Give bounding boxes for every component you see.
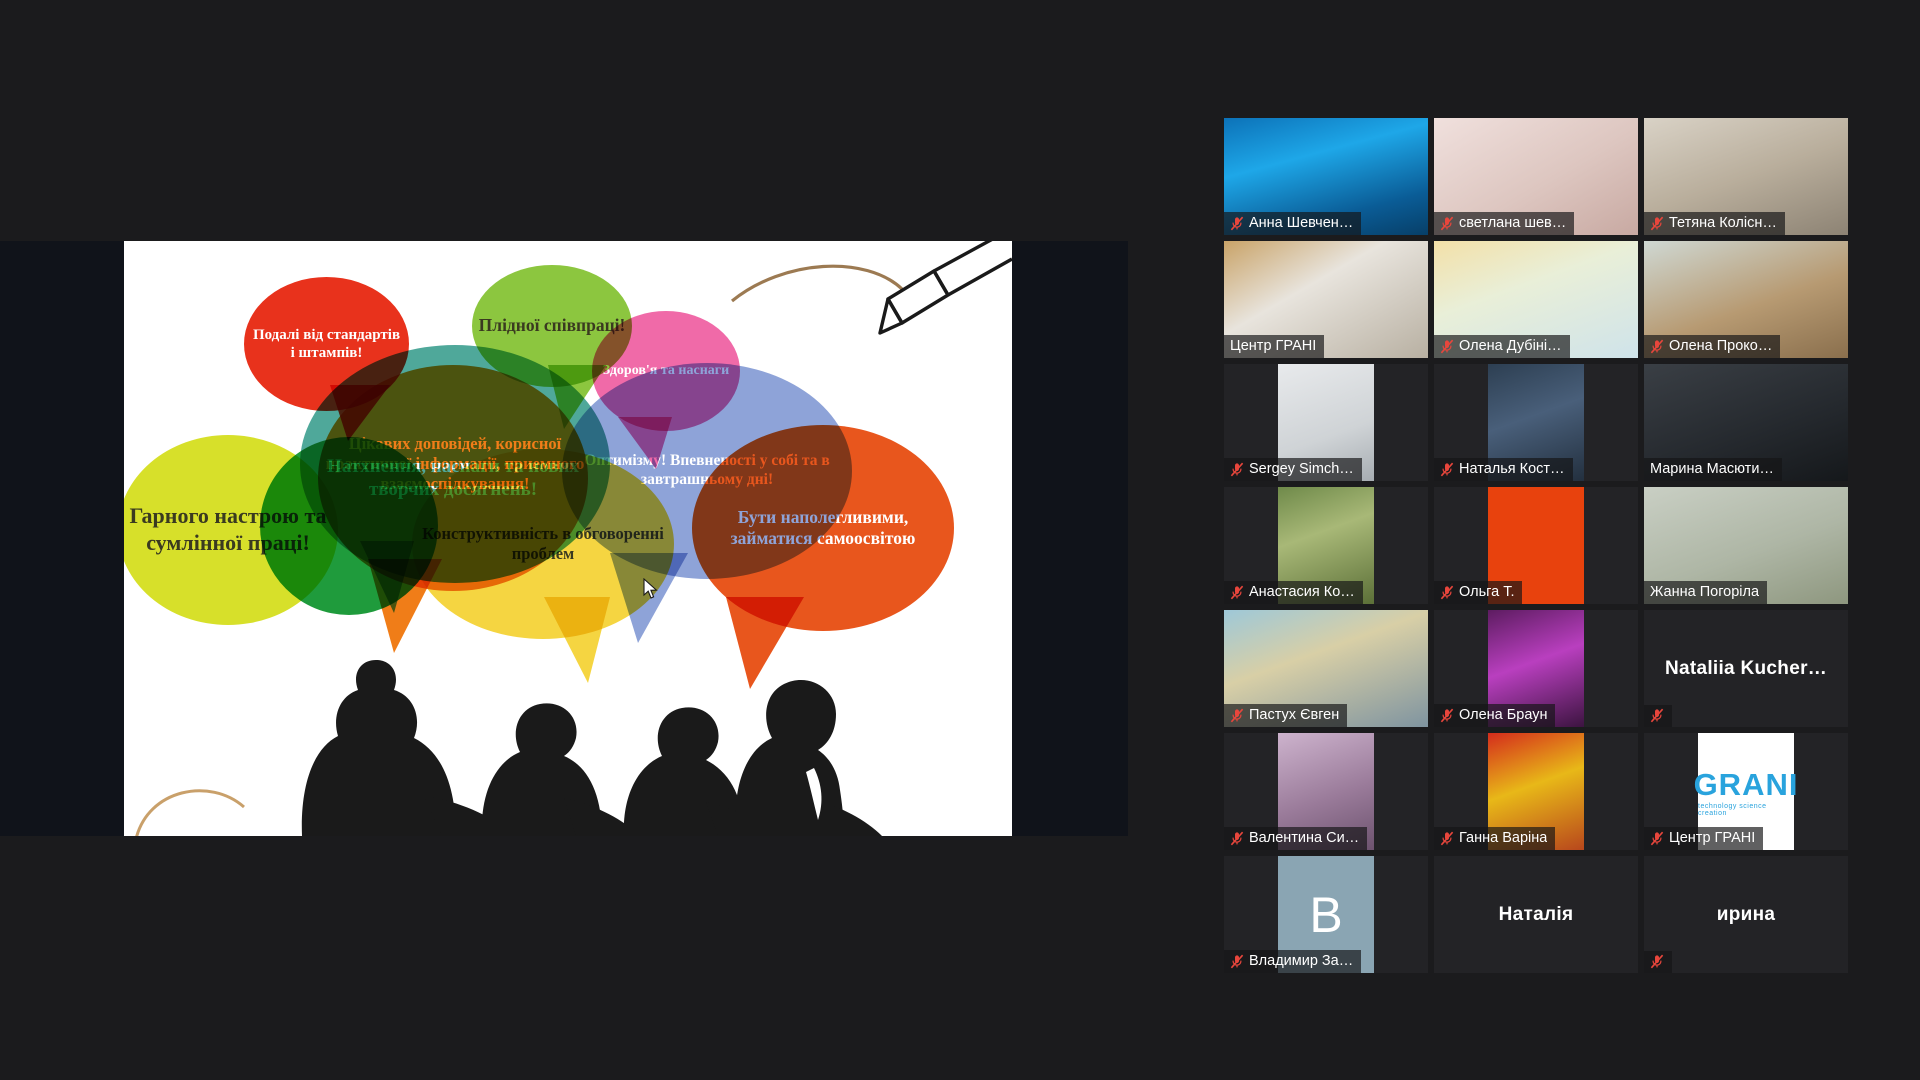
participant-name: Sergey Simch…: [1249, 461, 1354, 477]
mic-muted-icon: [1650, 339, 1664, 354]
participant-name: Валентина Си…: [1249, 830, 1359, 846]
participant-namebar: Наталья Кост…: [1434, 458, 1573, 481]
participant-tile[interactable]: светлана шев…: [1434, 118, 1638, 235]
participant-tile[interactable]: Центр ГРАНІ: [1224, 241, 1428, 358]
mic-muted-icon: [1440, 216, 1454, 231]
participant-namebar: Ольга Т.: [1434, 581, 1522, 604]
participant-tile[interactable]: Наталья Кост…: [1434, 364, 1638, 481]
participant-tile[interactable]: Марина Масюти…: [1644, 364, 1848, 481]
participant-namebar: светлана шев…: [1434, 212, 1574, 235]
participant-namebar: Валентина Си…: [1224, 827, 1367, 850]
participant-name: Ольга Т.: [1459, 584, 1514, 600]
participant-name: Анна Шевчен…: [1249, 215, 1353, 231]
mic-muted-icon: [1650, 954, 1664, 969]
participant-namebar: Тетяна Колісн…: [1644, 212, 1785, 235]
participant-namebar: [1644, 705, 1672, 727]
participant-grid: Анна Шевчен…светлана шев…Тетяна Колісн…Ц…: [1224, 118, 1848, 973]
mic-muted-icon: [1440, 585, 1454, 600]
mic-muted-icon: [1650, 831, 1664, 846]
participant-name: Жанна Погоріла: [1650, 584, 1759, 600]
participant-tile[interactable]: ВВладимир За…: [1224, 856, 1428, 973]
participant-name: Марина Масюти…: [1650, 461, 1774, 477]
participant-namebar: Жанна Погоріла: [1644, 581, 1767, 604]
participant-namebar: Анна Шевчен…: [1224, 212, 1361, 235]
participant-name-large: ирина: [1711, 904, 1782, 926]
participant-tile[interactable]: Пастух Євген: [1224, 610, 1428, 727]
participant-name: Тетяна Колісн…: [1669, 215, 1777, 231]
mic-muted-icon: [1650, 708, 1664, 723]
participant-tile[interactable]: Олена Проко…: [1644, 241, 1848, 358]
participant-namebar: Пастух Євген: [1224, 704, 1347, 727]
participant-namebar: [1644, 951, 1672, 973]
participant-namebar: Марина Масюти…: [1644, 458, 1782, 481]
participant-namebar: Ганна Варіна: [1434, 827, 1555, 850]
participant-namebar: Sergey Simch…: [1224, 458, 1362, 481]
participant-tile[interactable]: Олена Браун: [1434, 610, 1638, 727]
participant-tile[interactable]: Sergey Simch…: [1224, 364, 1428, 481]
participant-name: Центр ГРАНІ: [1669, 830, 1755, 846]
mic-muted-icon: [1440, 339, 1454, 354]
participant-name: Олена Браун: [1459, 707, 1547, 723]
participant-namebar: Анастасия Ко…: [1224, 581, 1363, 604]
mic-muted-icon: [1440, 708, 1454, 723]
mic-muted-icon: [1230, 831, 1244, 846]
mic-muted-icon: [1230, 462, 1244, 477]
people-silhouettes: [124, 586, 1012, 836]
participant-name: Анастасия Ко…: [1249, 584, 1355, 600]
participant-name: Олена Дубіні…: [1459, 338, 1562, 354]
participant-namebar: Центр ГРАНІ: [1224, 335, 1324, 358]
participant-tile[interactable]: Анастасия Ко…: [1224, 487, 1428, 604]
participant-name: Олена Проко…: [1669, 338, 1772, 354]
participant-name: Наталья Кост…: [1459, 461, 1565, 477]
participant-name: Ганна Варіна: [1459, 830, 1547, 846]
mic-muted-icon: [1650, 216, 1664, 231]
participant-name: Владимир За…: [1249, 953, 1353, 969]
participant-namebar: Олена Проко…: [1644, 335, 1780, 358]
pencil-icon: [880, 241, 1012, 333]
participant-tile[interactable]: ирина: [1644, 856, 1848, 973]
participant-tile[interactable]: Наталія: [1434, 856, 1638, 973]
participant-tile[interactable]: Жанна Погоріла: [1644, 487, 1848, 604]
participant-tile[interactable]: Nataliia Kucher…: [1644, 610, 1848, 727]
presentation-slide[interactable]: Цікавих доповідей, корисної практичної і…: [124, 241, 1012, 836]
mouse-pointer: [643, 578, 659, 600]
participant-name: Пастух Євген: [1249, 707, 1339, 723]
participant-namebar: Олена Дубіні…: [1434, 335, 1570, 358]
participant-name: светлана шев…: [1459, 215, 1566, 231]
mic-muted-icon: [1230, 216, 1244, 231]
participant-namebar: Центр ГРАНІ: [1644, 827, 1763, 850]
participant-tile[interactable]: GRANItechnology science creationЦентр ГР…: [1644, 733, 1848, 850]
participant-tile[interactable]: Анна Шевчен…: [1224, 118, 1428, 235]
mic-muted-icon: [1440, 831, 1454, 846]
participant-tile[interactable]: Ольга Т.: [1434, 487, 1638, 604]
mic-muted-icon: [1230, 954, 1244, 969]
participant-namebar: Олена Браун: [1434, 704, 1555, 727]
shared-screen-area[interactable]: Цікавих доповідей, корисної практичної і…: [0, 241, 1128, 836]
participant-tile[interactable]: Валентина Си…: [1224, 733, 1428, 850]
participant-tile[interactable]: Ганна Варіна: [1434, 733, 1638, 850]
participant-tile[interactable]: Олена Дубіні…: [1434, 241, 1638, 358]
mic-muted-icon: [1230, 585, 1244, 600]
participant-tile[interactable]: Тетяна Колісн…: [1644, 118, 1848, 235]
participant-name: Центр ГРАНІ: [1230, 338, 1316, 354]
participant-name-large: Nataliia Kucher…: [1659, 658, 1833, 680]
participant-name-large: Наталія: [1493, 904, 1580, 926]
mic-muted-icon: [1440, 462, 1454, 477]
participant-namebar: Владимир За…: [1224, 950, 1361, 973]
mic-muted-icon: [1230, 708, 1244, 723]
